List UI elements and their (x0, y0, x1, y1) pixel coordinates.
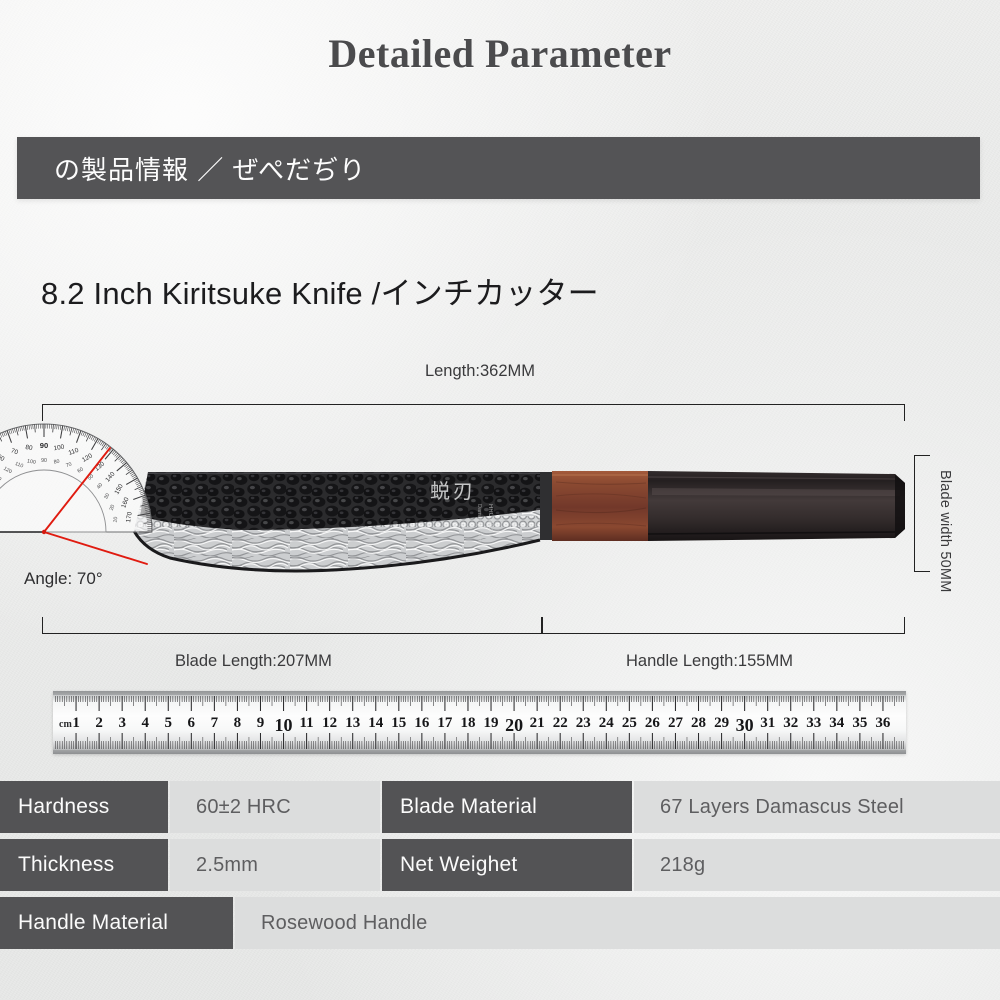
blade-tang-step (540, 472, 552, 540)
ruler-tick-label: 26 (645, 715, 660, 732)
product-spec-sheet: Detailed Parameter の製品情報 ／ ぜぺだぢり 8.2 Inc… (0, 0, 1000, 1000)
ruler-tick-label: 22 (553, 715, 568, 732)
ruler-tick-label: 11 (300, 715, 314, 732)
handle-body (648, 471, 905, 541)
ruler-tick-label: 7 (211, 715, 219, 732)
ruler-tick-label: 8 (234, 715, 242, 732)
ruler-tick-label: 31 (760, 715, 775, 732)
table-row: Handle Material Rosewood Handle (0, 897, 1000, 949)
spec-label-handle-material: Handle Material (0, 897, 233, 949)
ruler-tick-label: 24 (599, 715, 614, 732)
product-name-heading: 8.2 Inch Kiritsuke Knife /インチカッター (41, 268, 599, 313)
ruler-tick-label: 27 (668, 715, 683, 732)
ruler-tick-label: 17 (437, 715, 452, 732)
total-length-bracket (42, 404, 905, 421)
blade-engraving-mark: HRC 60±2 (487, 504, 493, 533)
ruler-tick-label: 13 (345, 715, 360, 732)
ruler-tick-label: 25 (622, 715, 637, 732)
handle-length-label: Handle Length:155MM (626, 652, 793, 671)
ruler-tick-label: 36 (875, 715, 890, 732)
ruler-tick-label: 18 (461, 715, 476, 732)
spec-label-hardness: Hardness (0, 781, 168, 833)
ruler-tick-label: 14 (368, 715, 383, 732)
measuring-ruler: 1234567891011121314151617181920212223242… (53, 691, 906, 754)
angle-label: Angle: 70° (24, 569, 103, 589)
spec-value-net-weight: 218g (634, 839, 1000, 891)
ruler-tick-label: 16 (414, 715, 429, 732)
spec-value-hardness: 60±2 HRC (170, 781, 380, 833)
ruler-unit-label: cm (59, 719, 72, 730)
ruler-tick-label: 4 (141, 715, 149, 732)
ruler-tick-label: 35 (852, 715, 867, 732)
ruler-tick-label: 9 (257, 715, 265, 732)
ruler-tick-label: 10 (275, 715, 293, 736)
ruler-tick-label: 12 (322, 715, 337, 732)
ruler-tick-label: 15 (391, 715, 406, 732)
ruler-tick-label: 19 (484, 715, 499, 732)
bracket-divider-tick (541, 617, 543, 634)
ruler-tick-label: 6 (188, 715, 196, 732)
total-length-label: Length:362MM (0, 362, 960, 381)
ruler-tick-label: 23 (576, 715, 591, 732)
ruler-tick-label: 33 (806, 715, 821, 732)
handle-butt-cap (895, 474, 905, 538)
ruler-tick-label: 1 (72, 715, 80, 732)
blade-handle-length-bracket (42, 617, 905, 634)
ruler-tick-label: 3 (118, 715, 126, 732)
ruler-tick-label: 29 (714, 715, 729, 732)
spec-value-thickness: 2.5mm (170, 839, 380, 891)
table-row: Hardness 60±2 HRC Blade Material 67 Laye… (0, 781, 1000, 833)
blade-width-label: Blade width 50MM (936, 470, 953, 592)
page-title: Detailed Parameter (0, 30, 1000, 77)
table-row: Thickness 2.5mm Net Weighet 218g (0, 839, 1000, 891)
spec-label-blade-material: Blade Material (382, 781, 632, 833)
blade-length-label: Blade Length:207MM (175, 652, 332, 671)
spec-label-thickness: Thickness (0, 839, 168, 891)
spec-value-handle-material: Rosewood Handle (235, 897, 1000, 949)
ruler-tick-label: 20 (505, 715, 523, 736)
knife-illustration: 蜕刃 HRC 60±2 Damascus Steel (0, 430, 1000, 615)
ruler-tick-label: 5 (165, 715, 173, 732)
blade-engraving-kanji: 蜕刃 (430, 480, 476, 503)
ruler-tick-label: 34 (829, 715, 844, 732)
section-banner: の製品情報 ／ ぜぺだぢり (17, 137, 980, 199)
handle-ferrule (552, 471, 648, 541)
ruler-tick-label: 30 (736, 715, 754, 736)
specification-table: Hardness 60±2 HRC Blade Material 67 Laye… (0, 781, 1000, 955)
ruler-tick-label: 28 (691, 715, 706, 732)
ruler-tick-label: 21 (530, 715, 545, 732)
blade-engraving-brand: Damascus Steel (476, 504, 482, 545)
ruler-tick-label: 2 (95, 715, 103, 732)
ruler-tick-label: 32 (783, 715, 798, 732)
spec-label-net-weight: Net Weighet (382, 839, 632, 891)
section-banner-label: の製品情報 ／ ぜぺだぢり (17, 150, 366, 187)
spec-value-blade-material: 67 Layers Damascus Steel (634, 781, 1000, 833)
ruler-number-row: 1234567891011121314151617181920212223242… (53, 691, 906, 754)
